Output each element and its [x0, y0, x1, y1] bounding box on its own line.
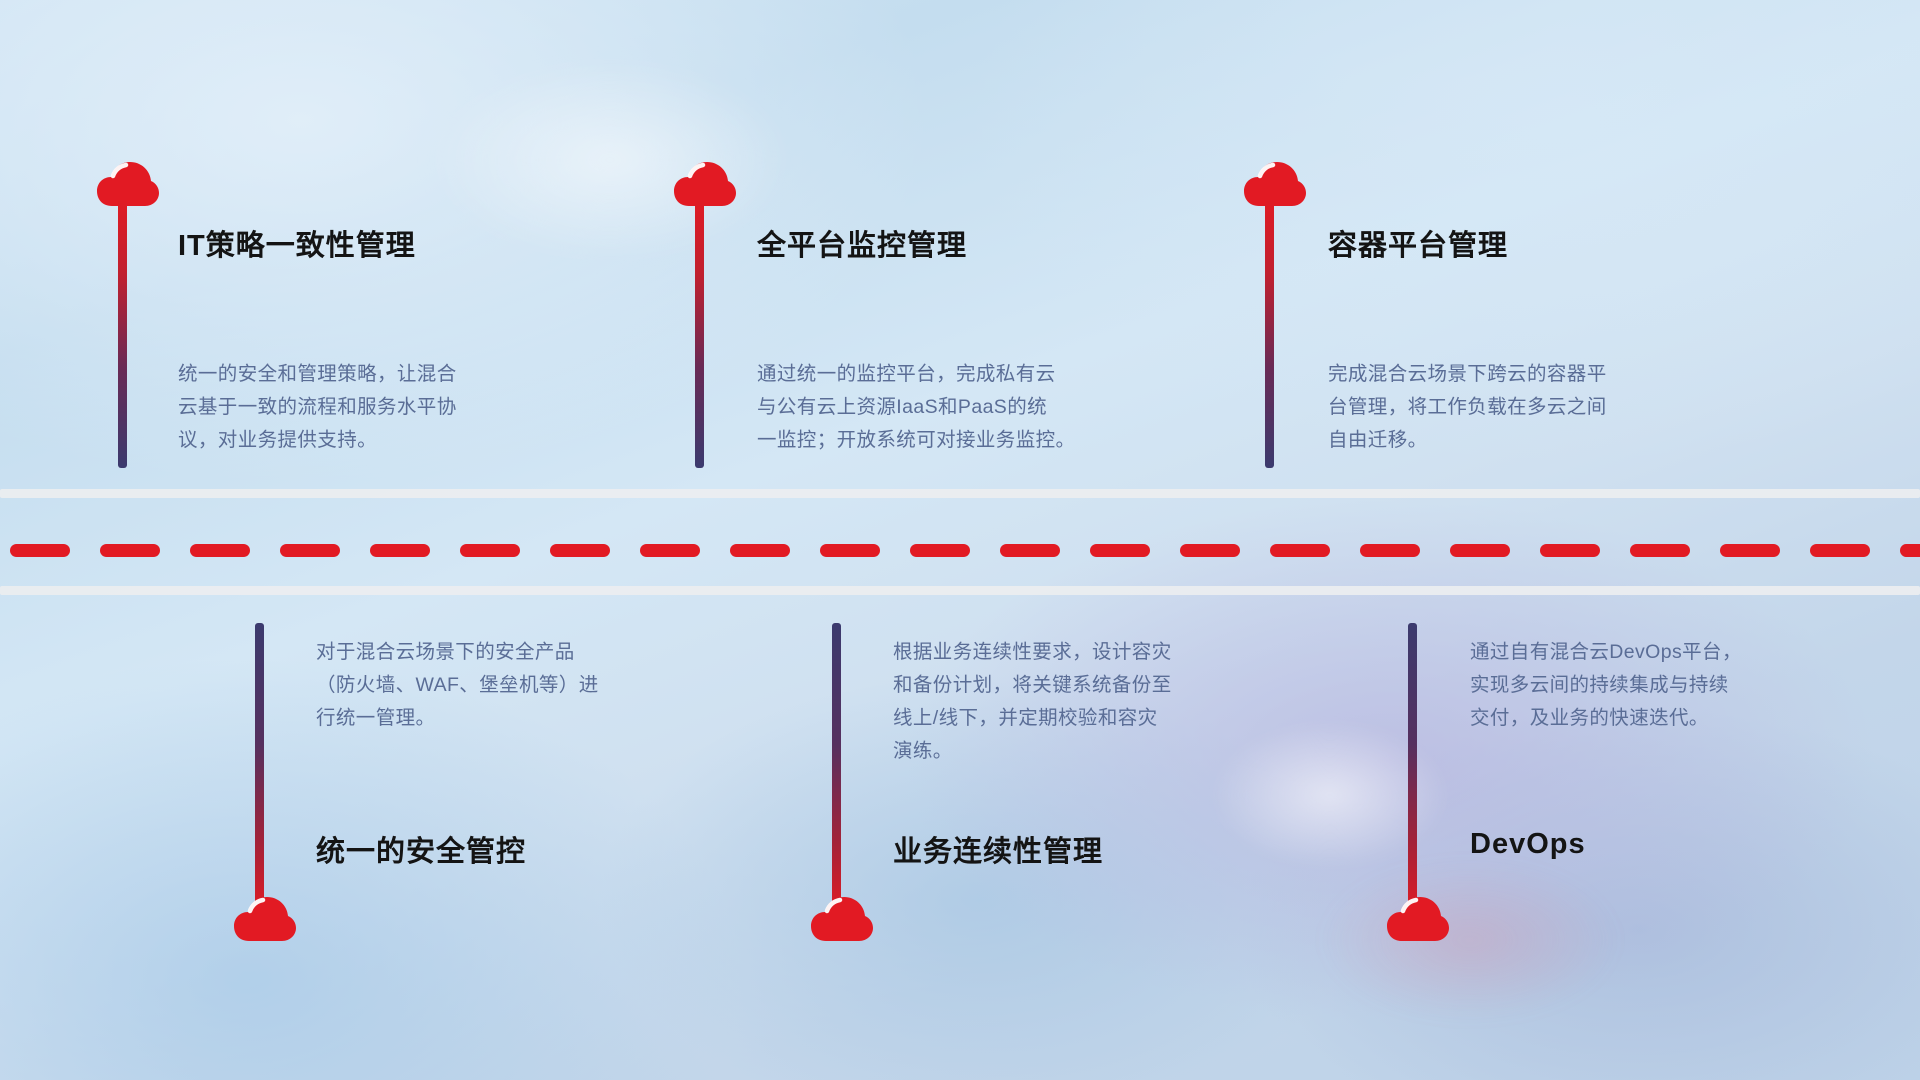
- stem-line: [695, 200, 704, 468]
- dash-segment: [100, 544, 160, 557]
- card-title: DevOps: [1470, 828, 1586, 861]
- card-title: 容器平台管理: [1328, 222, 1508, 264]
- infographic-canvas: IT策略一致性管理 统一的安全和管理策略，让混合 云基于一致的流程和服务水平协 …: [0, 0, 1920, 1080]
- dash-segment: [1090, 544, 1150, 557]
- stem-line: [1265, 200, 1274, 468]
- cloud-icon: [1243, 160, 1307, 208]
- card-body: 统一的安全和管理策略，让混合 云基于一致的流程和服务水平协 议，对业务提供支持。: [178, 358, 608, 457]
- card-body: 通过统一的监控平台，完成私有云 与公有云上资源IaaS和PaaS的统 一监控；开…: [757, 358, 1217, 457]
- dash-segment: [1360, 544, 1420, 557]
- dash-segment: [910, 544, 970, 557]
- dash-segment: [820, 544, 880, 557]
- dashed-separator: [0, 543, 1920, 557]
- background-glow-pink: [1320, 860, 1620, 1020]
- card-title: 业务连续性管理: [893, 828, 1103, 870]
- stem-line: [118, 200, 127, 468]
- dash-segment: [1450, 544, 1510, 557]
- stem-line: [255, 623, 264, 913]
- card-title: 统一的安全管控: [316, 828, 526, 870]
- cloud-icon: [673, 160, 737, 208]
- card-title: IT策略一致性管理: [178, 222, 416, 264]
- dash-segment: [1810, 544, 1870, 557]
- stem-line: [1408, 623, 1417, 913]
- dash-segment: [1180, 544, 1240, 557]
- dash-segment: [460, 544, 520, 557]
- dash-segment: [1900, 544, 1920, 557]
- dash-segment: [1720, 544, 1780, 557]
- card-title: 全平台监控管理: [757, 222, 967, 264]
- dash-segment: [640, 544, 700, 557]
- card-body: 完成混合云场景下跨云的容器平 台管理，将工作负载在多云之间 自由迁移。: [1328, 358, 1758, 457]
- cloud-icon: [1386, 895, 1450, 943]
- cloud-icon: [96, 160, 160, 208]
- dash-segment: [10, 544, 70, 557]
- card-body: 根据业务连续性要求，设计容灾 和备份计划，将关键系统备份至 线上/线下，并定期校…: [893, 636, 1333, 768]
- divider-line-lower: [0, 586, 1920, 595]
- dash-segment: [550, 544, 610, 557]
- dash-segment: [1540, 544, 1600, 557]
- card-body: 通过自有混合云DevOps平台， 实现多云间的持续集成与持续 交付，及业务的快速…: [1470, 636, 1900, 735]
- dash-segment: [190, 544, 250, 557]
- dash-segment: [280, 544, 340, 557]
- dash-segment: [730, 544, 790, 557]
- stem-line: [832, 623, 841, 913]
- dash-segment: [1630, 544, 1690, 557]
- cloud-icon: [233, 895, 297, 943]
- dash-segment: [1000, 544, 1060, 557]
- dash-segment: [1270, 544, 1330, 557]
- cloud-icon: [810, 895, 874, 943]
- dash-segment: [370, 544, 430, 557]
- card-body: 对于混合云场景下的安全产品 （防火墙、WAF、堡垒机等）进 行统一管理。: [316, 636, 746, 735]
- divider-line-upper: [0, 489, 1920, 498]
